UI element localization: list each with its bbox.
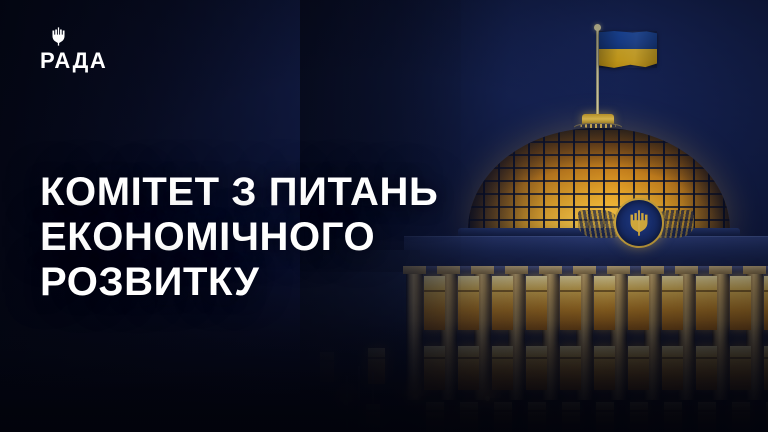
rada-wordmark: РАДА [40,50,107,72]
title-line-2: ЕКОНОМІЧНОГО [40,215,540,260]
rada-logo[interactable]: РАДА [40,26,107,72]
page-title: КОМІТЕТ З ПИТАНЬ ЕКОНОМІЧНОГО РОЗВИТКУ [40,170,540,305]
title-line-1: КОМІТЕТ З ПИТАНЬ [40,170,540,215]
title-line-3: РОЗВИТКУ [40,260,540,305]
banner-image: РАДА КОМІТЕТ З ПИТАНЬ ЕКОНОМІЧНОГО РОЗВИ… [0,0,768,432]
ukrainian-trident-icon [50,26,67,47]
